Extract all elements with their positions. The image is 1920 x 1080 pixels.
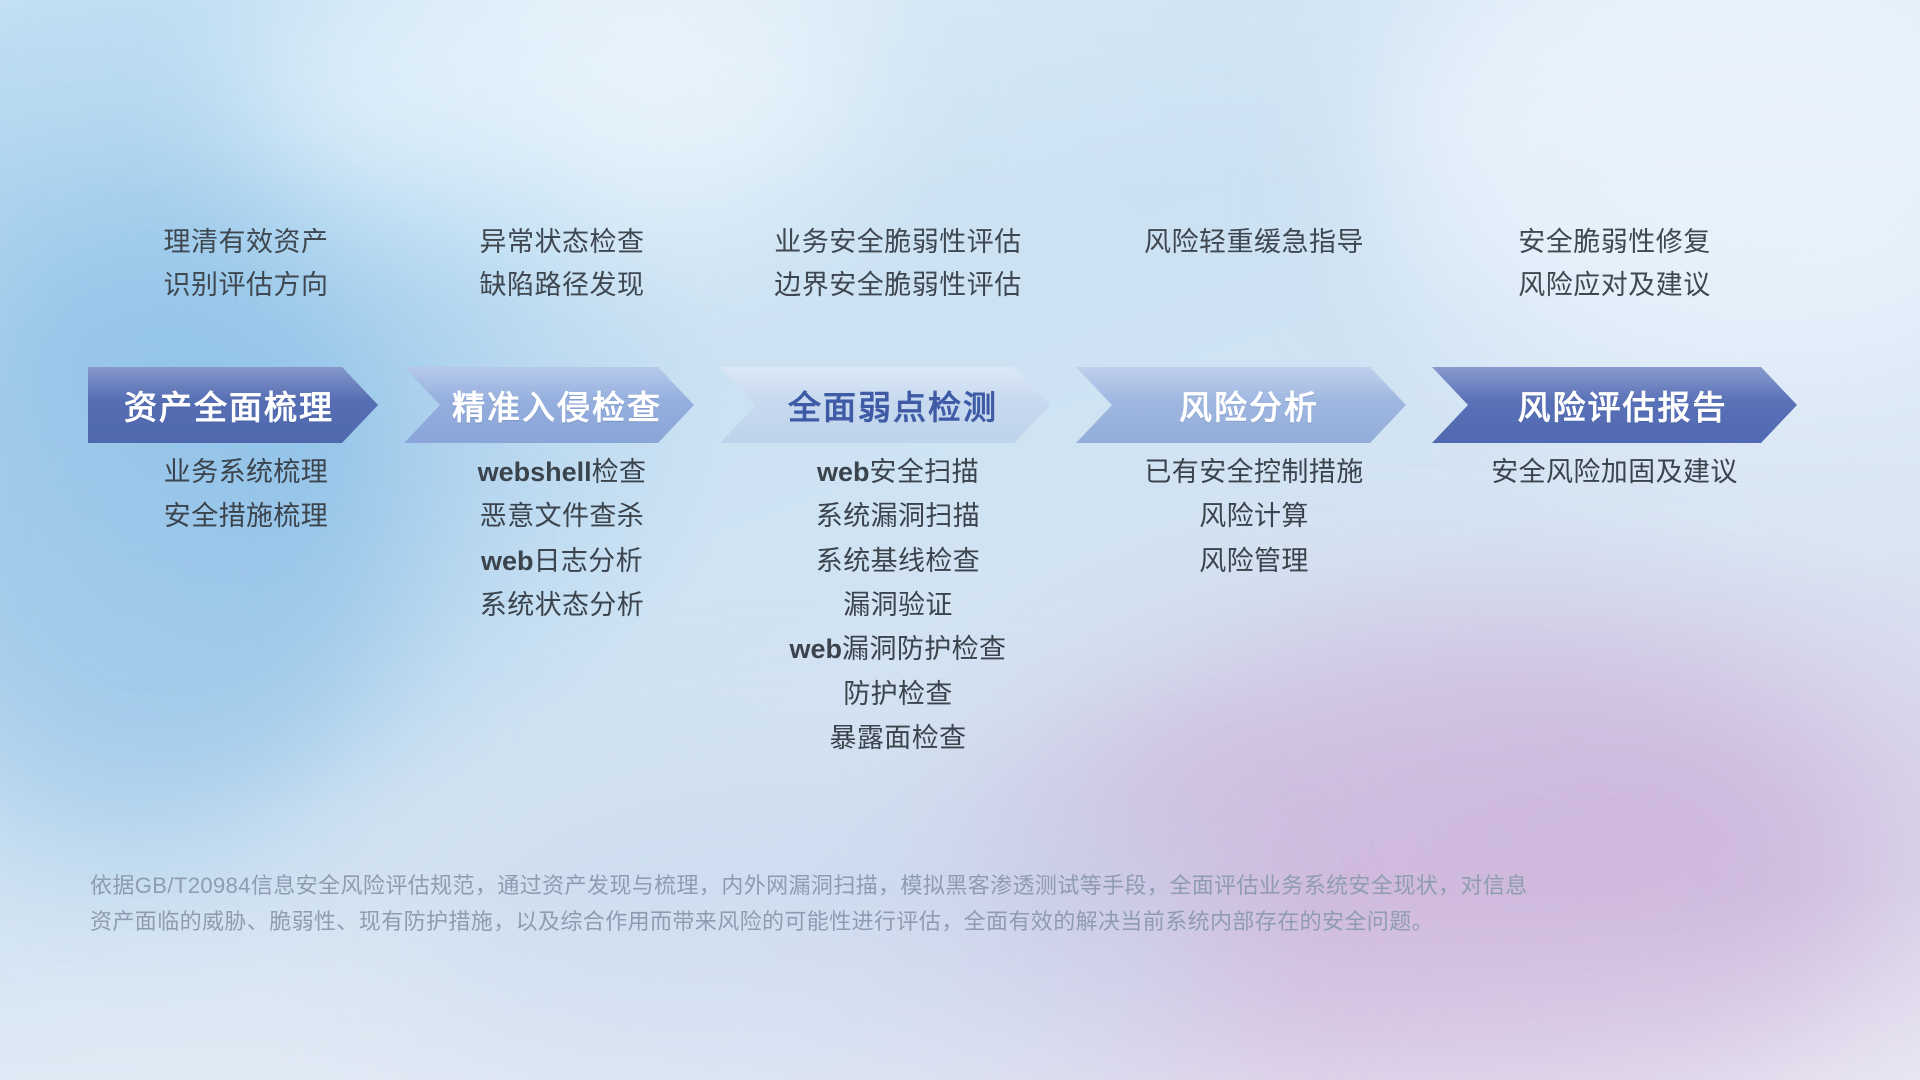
stage-outcomes-5: 安全脆弱性修复风险应对及建议	[1432, 228, 1797, 300]
process-step-2[interactable]: 精准入侵检查	[404, 367, 694, 443]
activity-latin-prefix: webshell	[478, 457, 592, 487]
stage-outcome-item: 异常状态检查	[480, 228, 645, 256]
chevron-separator	[378, 367, 404, 443]
process-step-5[interactable]: 风险评估报告	[1432, 367, 1797, 443]
stage-activity-item: web安全扫描	[817, 458, 979, 486]
stage-outcome-item: 理清有效资产	[164, 228, 329, 256]
activity-latin-prefix: web	[790, 634, 843, 664]
stage-activity-item: webshell检查	[478, 458, 647, 486]
stage-activity-item: 漏洞验证	[843, 591, 953, 619]
process-chevron-band: 资产全面梳理精准入侵检查全面弱点检测风险分析风险评估报告	[88, 367, 1835, 443]
stage-activity-item: 防护检查	[843, 680, 953, 708]
stage-outcome-item: 缺陷路径发现	[480, 271, 645, 299]
process-step-4[interactable]: 风险分析	[1076, 367, 1406, 443]
process-step-label: 风险分析	[1179, 381, 1319, 429]
process-step-label: 风险评估报告	[1518, 381, 1728, 429]
stage-outcomes-2: 异常状态检查缺陷路径发现	[404, 228, 720, 300]
stage-activities-row: 业务系统梳理安全措施梳理webshell检查恶意文件查杀web日志分析系统状态分…	[88, 458, 1832, 752]
stage-outcomes-4: 风险轻重缓急指导	[1076, 228, 1432, 300]
chevron-separator	[694, 367, 720, 443]
footer-description: 依据GB/T20984信息安全风险评估规范，通过资产发现与梳理，内外网漏洞扫描，…	[90, 868, 1610, 939]
footer-line-2: 资产面临的威胁、脆弱性、现有防护措施，以及综合作用而带来风险的可能性进行评估，全…	[90, 904, 1610, 940]
process-step-label: 全面弱点检测	[788, 381, 998, 429]
process-step-label: 资产全面梳理	[124, 381, 334, 429]
stage-activity-item: web漏洞防护检查	[790, 635, 1007, 663]
stage-activity-item: 安全风险加固及建议	[1491, 458, 1738, 486]
stage-outcome-item: 边界安全脆弱性评估	[774, 271, 1022, 299]
stage-activity-item: 恶意文件查杀	[480, 502, 644, 530]
process-step-label: 精准入侵检查	[452, 381, 662, 429]
stage-activity-item: 安全措施梳理	[164, 502, 328, 530]
footer-line-1: 依据GB/T20984信息安全风险评估规范，通过资产发现与梳理，内外网漏洞扫描，…	[90, 868, 1610, 904]
stage-outcomes-row: 理清有效资产识别评估方向异常状态检查缺陷路径发现业务安全脆弱性评估边界安全脆弱性…	[88, 228, 1832, 300]
activity-text: 检查	[592, 457, 647, 487]
stage-activity-item: 风险计算	[1199, 502, 1309, 530]
stage-activities-3: web安全扫描系统漏洞扫描系统基线检查漏洞验证web漏洞防护检查防护检查暴露面检…	[720, 458, 1076, 752]
stage-activities-5: 安全风险加固及建议	[1432, 458, 1797, 486]
activity-text: 漏洞防护检查	[842, 634, 1006, 664]
chevron-separator	[1050, 367, 1076, 443]
stage-activity-item: web日志分析	[481, 547, 643, 575]
activity-latin-prefix: web	[817, 457, 870, 487]
process-step-3[interactable]: 全面弱点检测	[720, 367, 1050, 443]
stage-activities-2: webshell检查恶意文件查杀web日志分析系统状态分析	[404, 458, 720, 619]
stage-outcome-item: 风险应对及建议	[1518, 271, 1711, 299]
stage-outcomes-1: 理清有效资产识别评估方向	[88, 228, 404, 300]
stage-outcome-item: 安全脆弱性修复	[1518, 228, 1711, 256]
stage-activity-item: 系统状态分析	[480, 591, 644, 619]
activity-text: 安全扫描	[869, 457, 979, 487]
stage-activity-item: 系统基线检查	[816, 547, 980, 575]
stage-activities-1: 业务系统梳理安全措施梳理	[88, 458, 404, 531]
stage-activity-item: 已有安全控制措施	[1144, 458, 1363, 486]
stage-activity-item: 暴露面检查	[830, 724, 967, 752]
stage-outcome-item: 风险轻重缓急指导	[1144, 228, 1364, 256]
stage-activities-4: 已有安全控制措施风险计算风险管理	[1076, 458, 1432, 575]
stage-outcome-item: 识别评估方向	[164, 271, 329, 299]
activity-text: 日志分析	[533, 546, 643, 576]
activity-latin-prefix: web	[481, 546, 534, 576]
stage-outcome-item: 业务安全脆弱性评估	[774, 228, 1022, 256]
stage-activity-item: 风险管理	[1199, 547, 1309, 575]
stage-activity-item: 业务系统梳理	[164, 458, 328, 486]
infographic-stage: 理清有效资产识别评估方向异常状态检查缺陷路径发现业务安全脆弱性评估边界安全脆弱性…	[0, 0, 1920, 1080]
chevron-separator	[1406, 367, 1432, 443]
stage-activity-item: 系统漏洞扫描	[816, 502, 980, 530]
stage-outcomes-3: 业务安全脆弱性评估边界安全脆弱性评估	[720, 228, 1076, 300]
process-step-1[interactable]: 资产全面梳理	[88, 367, 378, 443]
